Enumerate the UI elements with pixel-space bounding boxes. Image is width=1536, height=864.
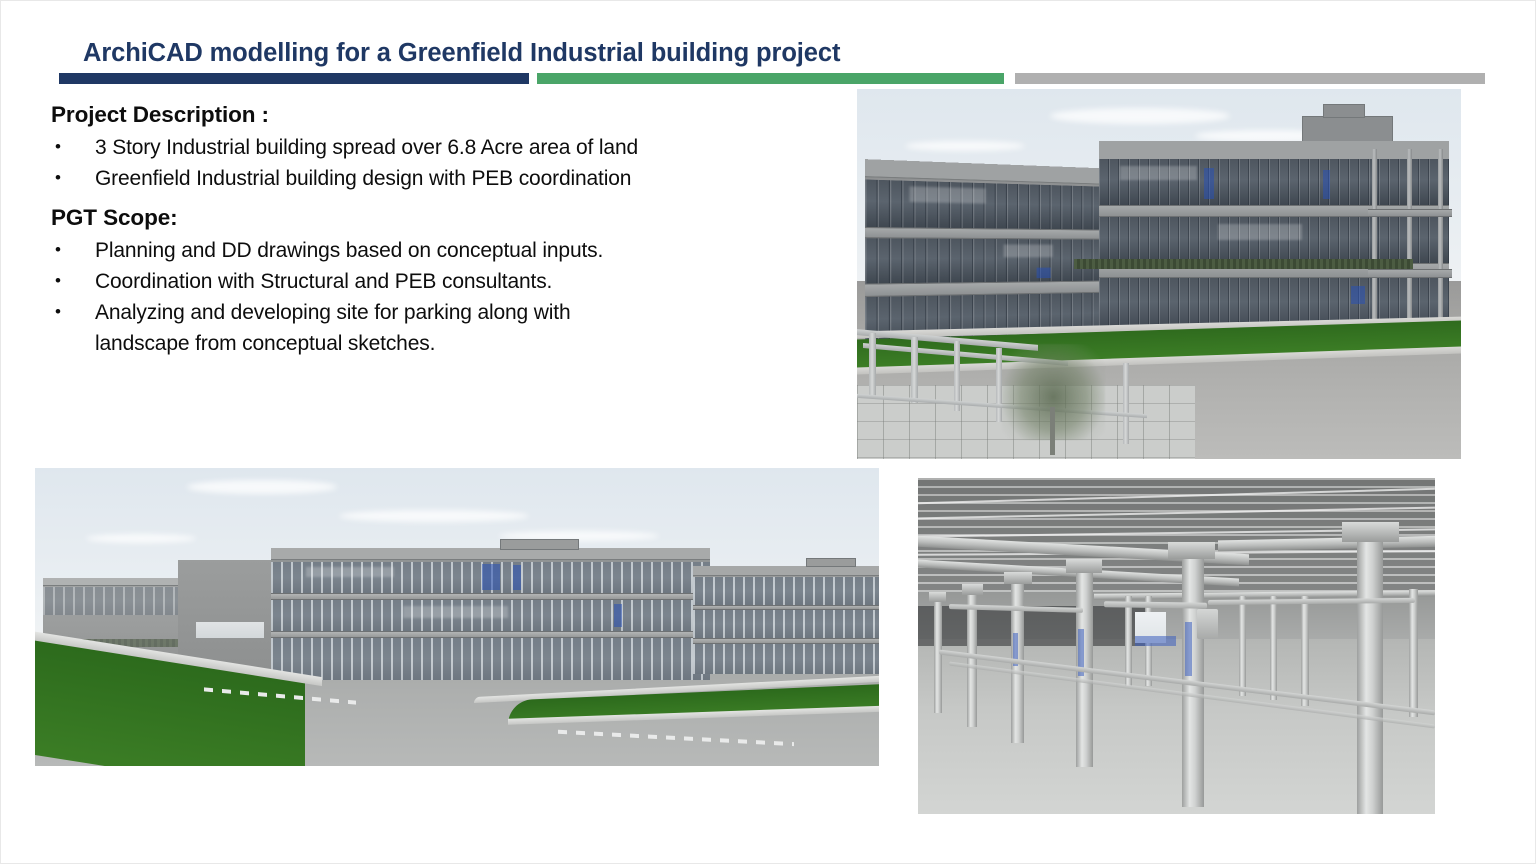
parapet [1099, 141, 1449, 161]
glass-highlight [1218, 224, 1302, 241]
downpipe [1197, 609, 1218, 639]
canopy-post [869, 333, 876, 396]
title-block: ArchiCAD modelling for a Greenfield Indu… [59, 37, 1489, 89]
title-rule-green [537, 73, 1004, 84]
planting-hedge [1074, 259, 1412, 269]
blue-accent [1323, 170, 1330, 199]
canopy-post [1123, 363, 1129, 444]
blue-accent [614, 604, 623, 628]
background-shadow [918, 606, 1145, 646]
blue-accent [1037, 268, 1051, 279]
rooftop-penthouse [500, 539, 579, 549]
content-text-column: Project Description : 3 Story Industrial… [51, 99, 841, 359]
building-right-wing [693, 566, 879, 673]
glass-highlight [909, 187, 986, 203]
steel-column [1301, 596, 1309, 707]
rooftop-penthouse [1302, 116, 1393, 143]
glazing-level-1 [693, 644, 879, 674]
glass-highlight [1120, 166, 1197, 181]
steel-column [1239, 596, 1246, 697]
structural-column [1372, 149, 1377, 344]
column-capital [1168, 542, 1215, 559]
list-item-continuation: landscape from conceptual sketches. [51, 328, 841, 359]
exterior-render-street-view [857, 89, 1461, 459]
blue-accent [1185, 622, 1192, 676]
interior-render-peb-structure [918, 478, 1435, 814]
glazing-level-2 [693, 610, 879, 638]
column-capital [1066, 559, 1102, 574]
floor-band [271, 593, 710, 600]
list-item: Planning and DD drawings based on concep… [51, 235, 841, 266]
list-item: Greenfield Industrial building design wi… [51, 163, 841, 194]
frame-beam [1368, 269, 1452, 277]
presentation-slide: ArchiCAD modelling for a Greenfield Indu… [0, 0, 1536, 864]
steel-column-foreground [1357, 538, 1383, 814]
column-capital [1342, 522, 1399, 542]
tree-trunk [1050, 407, 1055, 455]
building-main-block [1099, 141, 1449, 348]
canopy-post [911, 337, 918, 404]
pgt-scope-list: Planning and DD drawings based on concep… [51, 235, 841, 359]
column-capital [962, 584, 983, 595]
blue-accent [482, 564, 500, 590]
list-item: 3 Story Industrial building spread over … [51, 132, 841, 163]
parapet [693, 566, 879, 576]
frame-beam [1368, 209, 1452, 217]
cloud [339, 510, 529, 522]
column-capital [929, 592, 946, 602]
cloud [86, 534, 196, 543]
structural-column [1407, 149, 1412, 344]
title-rule-navy [59, 73, 529, 84]
list-item: Analyzing and developing site for parkin… [51, 297, 841, 328]
parapet [271, 548, 710, 559]
exterior-render-corner-view [35, 468, 879, 766]
pgt-scope-heading: PGT Scope: [51, 202, 841, 233]
cloud [905, 141, 1025, 151]
glass-highlight [1004, 245, 1054, 257]
rooftop-penthouse [806, 558, 856, 568]
glass-highlight [403, 606, 508, 618]
steel-column [934, 599, 942, 713]
rooftop-plant [1323, 104, 1365, 119]
list-item: Coordination with Structural and PEB con… [51, 266, 841, 297]
project-description-list: 3 Story Industrial building spread over … [51, 132, 841, 194]
steel-column [967, 592, 977, 726]
entry-window [196, 622, 264, 637]
structural-column [1438, 149, 1443, 344]
glazing-level-3 [693, 577, 879, 605]
building-main-block [271, 548, 710, 679]
glass-highlight [306, 567, 394, 577]
steel-column [1270, 596, 1278, 700]
steel-column [1409, 589, 1418, 717]
cloud [1050, 108, 1230, 124]
cloud [187, 480, 337, 494]
column-capital [1004, 572, 1032, 584]
blue-accent [513, 565, 522, 590]
glazing-level-1 [271, 638, 710, 680]
project-description-heading: Project Description : [51, 99, 841, 130]
blue-accent [1204, 168, 1215, 199]
page-title: ArchiCAD modelling for a Greenfield Indu… [83, 37, 840, 69]
blue-accent [1351, 286, 1365, 305]
blue-accent [1135, 636, 1176, 646]
title-rule-gray [1015, 73, 1485, 84]
